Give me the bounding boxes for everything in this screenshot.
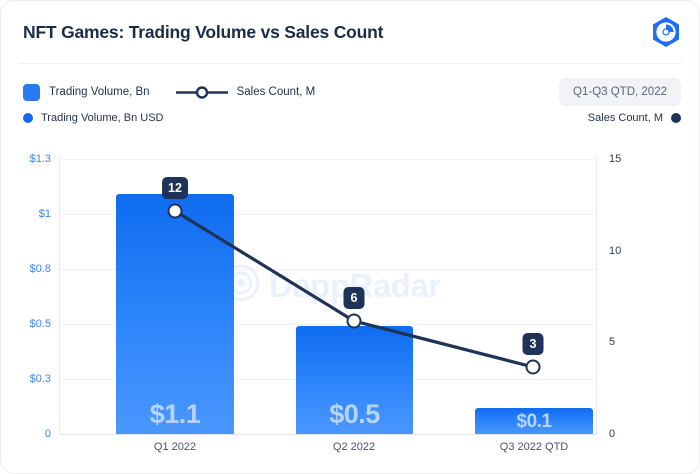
data-label-q2-2022: 6 <box>344 287 365 309</box>
data-point-q1-2022[interactable] <box>168 204 183 219</box>
data-point-q3-2022-qtd[interactable] <box>526 360 541 375</box>
data-label-q3-2022-qtd: 3 <box>523 333 544 355</box>
data-point-q2-2022[interactable] <box>347 314 362 329</box>
x-axis-label-q3-2022-qtd: Q3 2022 QTD <box>500 441 568 453</box>
data-label-q1-2022: 12 <box>162 177 188 199</box>
chart-card: NFT Games: Trading Volume vs Sales Count… <box>0 0 700 474</box>
sales-count-line <box>1 1 700 474</box>
x-axis-label-q1-2022: Q1 2022 <box>154 441 196 453</box>
x-axis-label-q2-2022: Q2 2022 <box>333 441 375 453</box>
